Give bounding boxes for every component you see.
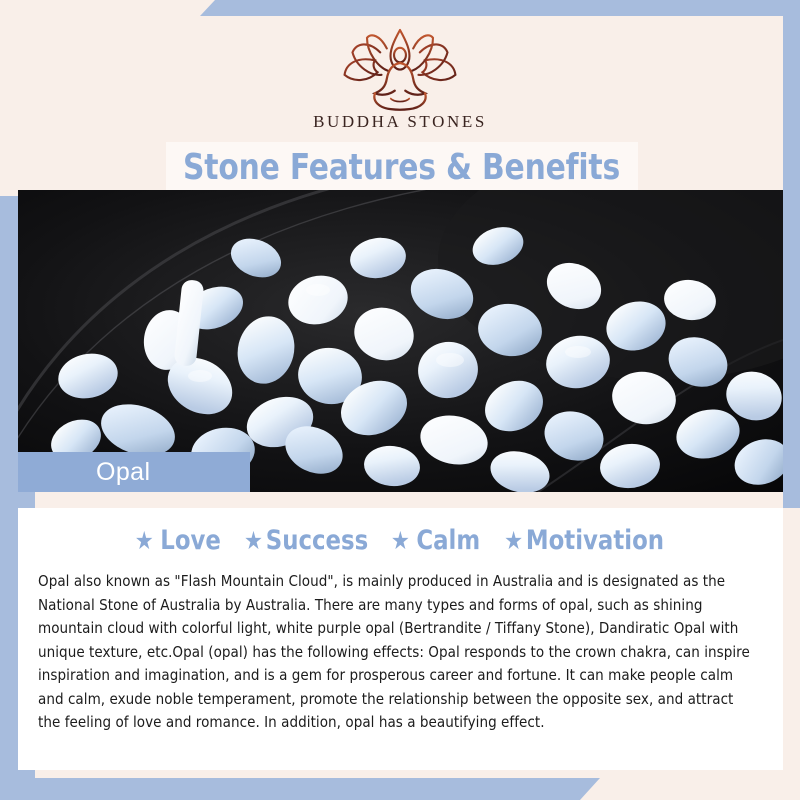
lotus-meditation-icon (334, 26, 466, 110)
benefit-label: Love (160, 525, 221, 556)
benefit-label: Motivation (526, 525, 664, 556)
brand-header: BUDDHA STONES (0, 16, 800, 142)
benefit-calm: ★ Calm (391, 525, 480, 556)
benefit-label: Success (265, 525, 367, 556)
content-panel: ★ Love ★ Success ★ Calm ★ Motivation Opa… (18, 508, 783, 770)
star-icon: ★ (504, 528, 523, 553)
page-title: Stone Features & Benefits (183, 147, 620, 188)
stone-description: Opal also known as "Flash Mountain Cloud… (38, 570, 756, 735)
stone-name-label: Opal (18, 452, 250, 492)
star-icon: ★ (391, 528, 410, 553)
bottom-accent-band (0, 778, 620, 800)
stone-name-text: Opal (96, 458, 150, 487)
benefit-motivation: ★ Motivation (504, 525, 664, 556)
benefit-success: ★ Success (244, 525, 368, 556)
top-accent-band (0, 0, 800, 16)
opal-tumbled-stones-photo (18, 190, 783, 492)
benefit-love: ★ Love (135, 525, 221, 556)
left-accent-strip (0, 196, 18, 512)
brand-name: BUDDHA STONES (313, 112, 487, 132)
star-icon: ★ (135, 528, 154, 553)
star-icon: ★ (244, 528, 263, 553)
infographic-page: BUDDHA STONES Stone Features & Benefits (0, 0, 800, 800)
title-banner: Stone Features & Benefits (166, 142, 638, 192)
benefits-row: ★ Love ★ Success ★ Calm ★ Motivation (38, 518, 763, 562)
benefit-label: Calm (416, 525, 480, 556)
